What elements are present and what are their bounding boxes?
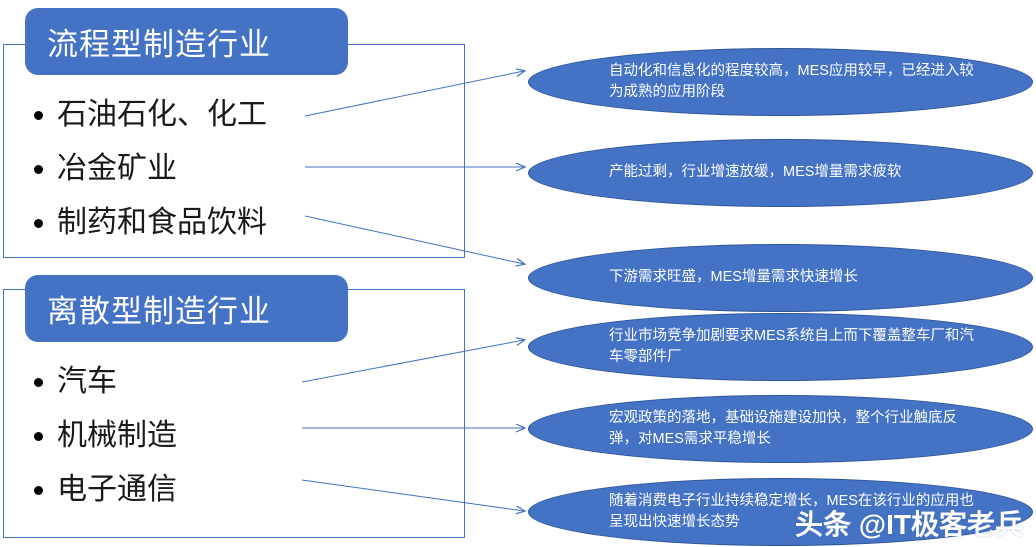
list-item[interactable]: 汽车 [34,355,414,409]
list-item-label: 冶金矿业 [57,154,177,184]
watermark: 头条 @IT极客老兵 [795,503,1023,543]
bullet-list-process: 石油石化、化工 冶金矿业 制药和食品饮料 [34,88,414,250]
list-item[interactable]: 石油石化、化工 [34,88,414,142]
list-item-label: 石油石化、化工 [57,100,267,130]
callout-text: 下游需求旺盛，MES增量需求快速增长 [529,267,1032,288]
slide-canvas: 流程型制造行业 石油石化、化工 冶金矿业 制药和食品饮料 离散型制造行业 汽车 … [0,0,1036,547]
bullet-list-discrete: 汽车 机械制造 电子通信 [34,355,414,517]
callout-ellipse-discrete-1[interactable]: 行业市场竞争加剧要求MES系统自上而下覆盖整车厂和汽车零部件厂 [528,313,1033,381]
list-item[interactable]: 电子通信 [34,463,414,517]
callout-text: 产能过剩，行业增速放缓，MES增量需求疲软 [529,162,1032,183]
callout-ellipse-process-1[interactable]: 自动化和信息化的程度较高，MES应用较早，已经进入较为成熟的应用阶段 [528,48,1033,116]
callout-ellipse-process-2[interactable]: 产能过剩，行业增速放缓，MES增量需求疲软 [528,139,1033,207]
list-item-label: 电子通信 [57,475,177,505]
callout-text: 行业市场竞争加剧要求MES系统自上而下覆盖整车厂和汽车零部件厂 [529,326,1032,368]
bullet-dot-icon [34,378,43,387]
callout-ellipse-discrete-2[interactable]: 宏观政策的落地，基础设施建设加快，整个行业触底反弹，对MES需求平稳增长 [528,395,1033,463]
list-item[interactable]: 冶金矿业 [34,142,414,196]
bullet-dot-icon [34,165,43,174]
bullet-dot-icon [34,111,43,120]
bullet-dot-icon [34,486,43,495]
group-header-discrete[interactable]: 离散型制造行业 [25,275,348,342]
list-item-label: 汽车 [57,367,117,397]
callout-text: 宏观政策的落地，基础设施建设加快，整个行业触底反弹，对MES需求平稳增长 [529,408,1032,450]
list-item[interactable]: 机械制造 [34,409,414,463]
callout-ellipse-process-3[interactable]: 下游需求旺盛，MES增量需求快速增长 [528,244,1033,312]
bullet-dot-icon [34,432,43,441]
list-item[interactable]: 制药和食品饮料 [34,196,414,250]
bullet-dot-icon [34,219,43,228]
group-header-process[interactable]: 流程型制造行业 [25,8,348,75]
list-item-label: 机械制造 [57,421,177,451]
callout-text: 自动化和信息化的程度较高，MES应用较早，已经进入较为成熟的应用阶段 [529,61,1032,103]
list-item-label: 制药和食品饮料 [57,208,267,238]
